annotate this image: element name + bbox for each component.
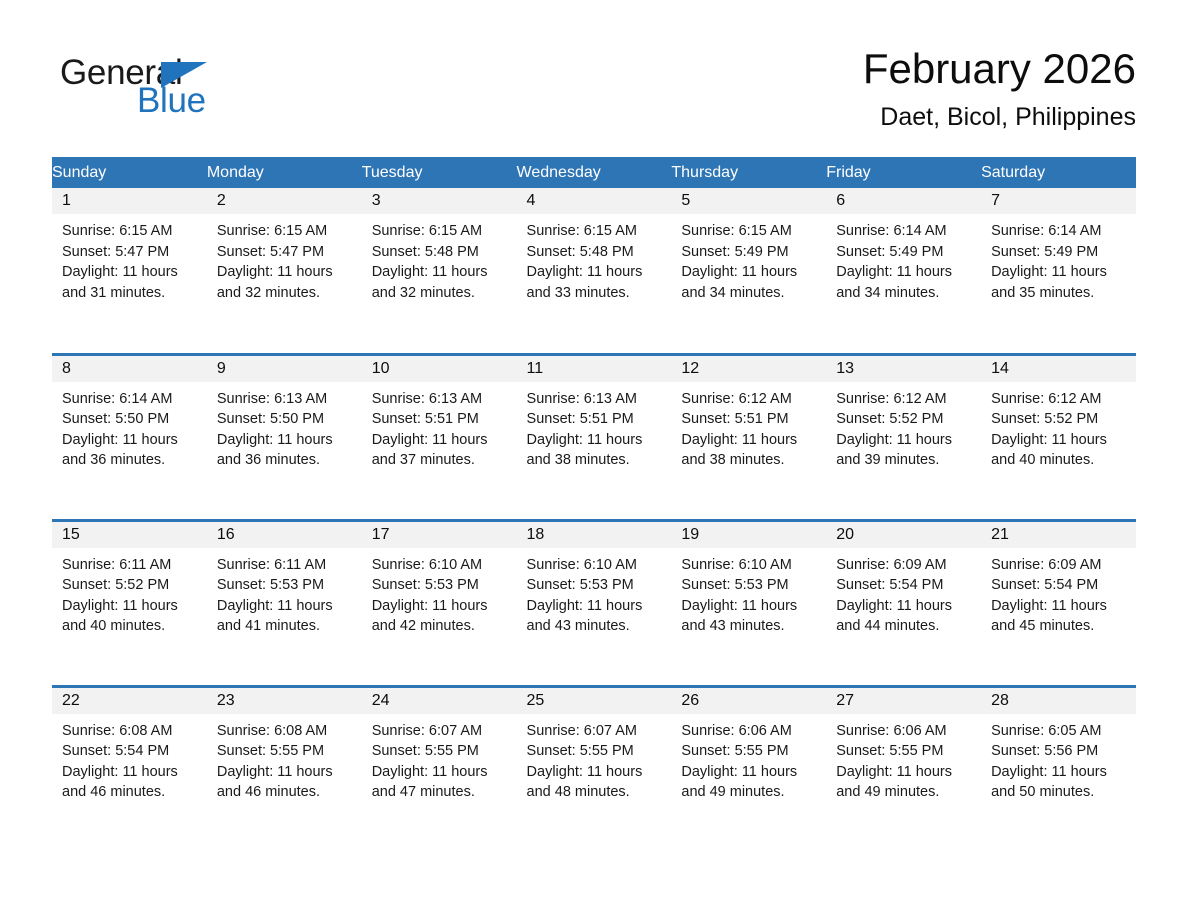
day-number: 12	[671, 356, 826, 382]
sunset-text: Sunset: 5:47 PM	[62, 242, 197, 263]
sunrise-text: Sunrise: 6:10 AM	[681, 555, 816, 576]
daylight-text: Daylight: 11 hours and 46 minutes.	[62, 762, 197, 803]
logo-text-blue: Blue	[137, 82, 206, 120]
sunset-text: Sunset: 5:55 PM	[217, 741, 352, 762]
sunset-text: Sunset: 5:53 PM	[681, 575, 816, 596]
day-number: 28	[981, 688, 1136, 714]
day-cell[interactable]: 7 Sunrise: 6:14 AM Sunset: 5:49 PM Dayli…	[981, 188, 1136, 354]
daylight-text: Daylight: 11 hours and 49 minutes.	[681, 762, 816, 803]
sunrise-text: Sunrise: 6:10 AM	[527, 555, 662, 576]
day-details: Sunrise: 6:15 AM Sunset: 5:49 PM Dayligh…	[671, 214, 826, 303]
daylight-text: Daylight: 11 hours and 45 minutes.	[991, 596, 1126, 637]
sunrise-text: Sunrise: 6:15 AM	[527, 221, 662, 242]
day-details: Sunrise: 6:15 AM Sunset: 5:47 PM Dayligh…	[52, 214, 207, 303]
sunrise-text: Sunrise: 6:13 AM	[217, 389, 352, 410]
weekday-header-tuesday: Tuesday	[362, 157, 517, 188]
sunrise-text: Sunrise: 6:10 AM	[372, 555, 507, 576]
sunset-text: Sunset: 5:53 PM	[217, 575, 352, 596]
sunset-text: Sunset: 5:48 PM	[527, 242, 662, 263]
day-cell[interactable]: 8 Sunrise: 6:14 AM Sunset: 5:50 PM Dayli…	[52, 354, 207, 520]
sunset-text: Sunset: 5:52 PM	[62, 575, 197, 596]
day-details: Sunrise: 6:10 AM Sunset: 5:53 PM Dayligh…	[671, 548, 826, 637]
day-cell[interactable]: 11 Sunrise: 6:13 AM Sunset: 5:51 PM Dayl…	[517, 354, 672, 520]
day-cell[interactable]: 21 Sunrise: 6:09 AM Sunset: 5:54 PM Dayl…	[981, 520, 1136, 686]
day-cell[interactable]: 2 Sunrise: 6:15 AM Sunset: 5:47 PM Dayli…	[207, 188, 362, 354]
sunrise-text: Sunrise: 6:13 AM	[372, 389, 507, 410]
day-cell[interactable]: 20 Sunrise: 6:09 AM Sunset: 5:54 PM Dayl…	[826, 520, 981, 686]
day-details: Sunrise: 6:11 AM Sunset: 5:52 PM Dayligh…	[52, 548, 207, 637]
day-number: 23	[207, 688, 362, 714]
day-cell[interactable]: 19 Sunrise: 6:10 AM Sunset: 5:53 PM Dayl…	[671, 520, 826, 686]
day-cell[interactable]: 15 Sunrise: 6:11 AM Sunset: 5:52 PM Dayl…	[52, 520, 207, 686]
sunrise-text: Sunrise: 6:15 AM	[681, 221, 816, 242]
weekday-header-monday: Monday	[207, 157, 362, 188]
sunrise-text: Sunrise: 6:12 AM	[681, 389, 816, 410]
daylight-text: Daylight: 11 hours and 33 minutes.	[527, 262, 662, 303]
day-cell[interactable]: 14 Sunrise: 6:12 AM Sunset: 5:52 PM Dayl…	[981, 354, 1136, 520]
day-details: Sunrise: 6:06 AM Sunset: 5:55 PM Dayligh…	[826, 714, 981, 803]
page-subtitle: Daet, Bicol, Philippines	[436, 102, 1136, 132]
sunrise-sunset-calendar-table: Sunday Monday Tuesday Wednesday Thursday…	[52, 157, 1136, 852]
day-details: Sunrise: 6:12 AM Sunset: 5:52 PM Dayligh…	[981, 382, 1136, 471]
sunrise-text: Sunrise: 6:06 AM	[836, 721, 971, 742]
sunset-text: Sunset: 5:55 PM	[372, 741, 507, 762]
sunset-text: Sunset: 5:49 PM	[836, 242, 971, 263]
day-number: 7	[981, 188, 1136, 214]
generalblue-logo[interactable]: General Blue	[60, 54, 360, 134]
day-number: 25	[517, 688, 672, 714]
day-cell[interactable]: 23 Sunrise: 6:08 AM Sunset: 5:55 PM Dayl…	[207, 686, 362, 852]
sunrise-text: Sunrise: 6:12 AM	[991, 389, 1126, 410]
day-details: Sunrise: 6:11 AM Sunset: 5:53 PM Dayligh…	[207, 548, 362, 637]
daylight-text: Daylight: 11 hours and 37 minutes.	[372, 430, 507, 471]
day-cell[interactable]: 5 Sunrise: 6:15 AM Sunset: 5:49 PM Dayli…	[671, 188, 826, 354]
day-cell[interactable]: 22 Sunrise: 6:08 AM Sunset: 5:54 PM Dayl…	[52, 686, 207, 852]
day-details: Sunrise: 6:09 AM Sunset: 5:54 PM Dayligh…	[826, 548, 981, 637]
day-number: 17	[362, 522, 517, 548]
sunrise-text: Sunrise: 6:15 AM	[62, 221, 197, 242]
weekday-header-saturday: Saturday	[981, 157, 1136, 188]
sunset-text: Sunset: 5:51 PM	[527, 409, 662, 430]
day-details: Sunrise: 6:10 AM Sunset: 5:53 PM Dayligh…	[362, 548, 517, 637]
sunset-text: Sunset: 5:52 PM	[991, 409, 1126, 430]
day-number: 20	[826, 522, 981, 548]
day-details: Sunrise: 6:08 AM Sunset: 5:54 PM Dayligh…	[52, 714, 207, 803]
daylight-text: Daylight: 11 hours and 46 minutes.	[217, 762, 352, 803]
page-title: February 2026	[436, 44, 1136, 94]
day-details: Sunrise: 6:06 AM Sunset: 5:55 PM Dayligh…	[671, 714, 826, 803]
sunset-text: Sunset: 5:49 PM	[681, 242, 816, 263]
sunrise-text: Sunrise: 6:09 AM	[991, 555, 1126, 576]
day-number: 10	[362, 356, 517, 382]
sunset-text: Sunset: 5:51 PM	[681, 409, 816, 430]
sunrise-text: Sunrise: 6:14 AM	[836, 221, 971, 242]
calendar-header-row-group: Sunday Monday Tuesday Wednesday Thursday…	[52, 157, 1136, 188]
sunrise-text: Sunrise: 6:08 AM	[62, 721, 197, 742]
day-cell[interactable]: 3 Sunrise: 6:15 AM Sunset: 5:48 PM Dayli…	[362, 188, 517, 354]
daylight-text: Daylight: 11 hours and 43 minutes.	[527, 596, 662, 637]
daylight-text: Daylight: 11 hours and 39 minutes.	[836, 430, 971, 471]
day-cell[interactable]: 25 Sunrise: 6:07 AM Sunset: 5:55 PM Dayl…	[517, 686, 672, 852]
sunset-text: Sunset: 5:55 PM	[681, 741, 816, 762]
day-details: Sunrise: 6:15 AM Sunset: 5:47 PM Dayligh…	[207, 214, 362, 303]
day-details: Sunrise: 6:07 AM Sunset: 5:55 PM Dayligh…	[517, 714, 672, 803]
sunset-text: Sunset: 5:50 PM	[62, 409, 197, 430]
day-number: 15	[52, 522, 207, 548]
day-cell[interactable]: 9 Sunrise: 6:13 AM Sunset: 5:50 PM Dayli…	[207, 354, 362, 520]
sunset-text: Sunset: 5:47 PM	[217, 242, 352, 263]
day-details: Sunrise: 6:07 AM Sunset: 5:55 PM Dayligh…	[362, 714, 517, 803]
day-cell[interactable]: 28 Sunrise: 6:05 AM Sunset: 5:56 PM Dayl…	[981, 686, 1136, 852]
day-details: Sunrise: 6:12 AM Sunset: 5:51 PM Dayligh…	[671, 382, 826, 471]
daylight-text: Daylight: 11 hours and 36 minutes.	[217, 430, 352, 471]
day-number: 19	[671, 522, 826, 548]
day-number: 5	[671, 188, 826, 214]
day-details: Sunrise: 6:14 AM Sunset: 5:49 PM Dayligh…	[826, 214, 981, 303]
daylight-text: Daylight: 11 hours and 38 minutes.	[527, 430, 662, 471]
day-number: 24	[362, 688, 517, 714]
sunset-text: Sunset: 5:48 PM	[372, 242, 507, 263]
daylight-text: Daylight: 11 hours and 43 minutes.	[681, 596, 816, 637]
daylight-text: Daylight: 11 hours and 32 minutes.	[217, 262, 352, 303]
daylight-text: Daylight: 11 hours and 34 minutes.	[836, 262, 971, 303]
sunset-text: Sunset: 5:54 PM	[62, 741, 197, 762]
weekday-header-sunday: Sunday	[52, 157, 207, 188]
day-number: 21	[981, 522, 1136, 548]
sunset-text: Sunset: 5:51 PM	[372, 409, 507, 430]
daylight-text: Daylight: 11 hours and 48 minutes.	[527, 762, 662, 803]
sunrise-text: Sunrise: 6:14 AM	[991, 221, 1126, 242]
calendar-body: 1 Sunrise: 6:15 AM Sunset: 5:47 PM Dayli…	[52, 188, 1136, 852]
sunset-text: Sunset: 5:54 PM	[836, 575, 971, 596]
sunrise-text: Sunrise: 6:11 AM	[62, 555, 197, 576]
day-number: 14	[981, 356, 1136, 382]
day-cell[interactable]: 13 Sunrise: 6:12 AM Sunset: 5:52 PM Dayl…	[826, 354, 981, 520]
sunrise-text: Sunrise: 6:11 AM	[217, 555, 352, 576]
day-details: Sunrise: 6:10 AM Sunset: 5:53 PM Dayligh…	[517, 548, 672, 637]
day-details: Sunrise: 6:12 AM Sunset: 5:52 PM Dayligh…	[826, 382, 981, 471]
daylight-text: Daylight: 11 hours and 42 minutes.	[372, 596, 507, 637]
sunset-text: Sunset: 5:55 PM	[836, 741, 971, 762]
sunrise-text: Sunrise: 6:07 AM	[372, 721, 507, 742]
title-block: February 2026 Daet, Bicol, Philippines	[436, 44, 1136, 132]
sunset-text: Sunset: 5:52 PM	[836, 409, 971, 430]
daylight-text: Daylight: 11 hours and 32 minutes.	[372, 262, 507, 303]
day-cell[interactable]: 12 Sunrise: 6:12 AM Sunset: 5:51 PM Dayl…	[671, 354, 826, 520]
sunrise-text: Sunrise: 6:09 AM	[836, 555, 971, 576]
calendar-week-row: 8 Sunrise: 6:14 AM Sunset: 5:50 PM Dayli…	[52, 354, 1136, 520]
day-details: Sunrise: 6:14 AM Sunset: 5:49 PM Dayligh…	[981, 214, 1136, 303]
day-number: 1	[52, 188, 207, 214]
daylight-text: Daylight: 11 hours and 50 minutes.	[991, 762, 1126, 803]
daylight-text: Daylight: 11 hours and 35 minutes.	[991, 262, 1126, 303]
sunrise-text: Sunrise: 6:08 AM	[217, 721, 352, 742]
day-cell[interactable]: 18 Sunrise: 6:10 AM Sunset: 5:53 PM Dayl…	[517, 520, 672, 686]
day-cell[interactable]: 1 Sunrise: 6:15 AM Sunset: 5:47 PM Dayli…	[52, 188, 207, 354]
day-cell[interactable]: 10 Sunrise: 6:13 AM Sunset: 5:51 PM Dayl…	[362, 354, 517, 520]
daylight-text: Daylight: 11 hours and 44 minutes.	[836, 596, 971, 637]
day-number: 13	[826, 356, 981, 382]
day-number: 8	[52, 356, 207, 382]
day-number: 18	[517, 522, 672, 548]
sunset-text: Sunset: 5:50 PM	[217, 409, 352, 430]
day-number: 26	[671, 688, 826, 714]
calendar-week-row: 15 Sunrise: 6:11 AM Sunset: 5:52 PM Dayl…	[52, 520, 1136, 686]
sunrise-text: Sunrise: 6:06 AM	[681, 721, 816, 742]
daylight-text: Daylight: 11 hours and 31 minutes.	[62, 262, 197, 303]
sunset-text: Sunset: 5:53 PM	[372, 575, 507, 596]
sunrise-text: Sunrise: 6:15 AM	[372, 221, 507, 242]
weekday-header-thursday: Thursday	[671, 157, 826, 188]
day-number: 16	[207, 522, 362, 548]
day-cell[interactable]: 4 Sunrise: 6:15 AM Sunset: 5:48 PM Dayli…	[517, 188, 672, 354]
day-number: 22	[52, 688, 207, 714]
sunrise-text: Sunrise: 6:15 AM	[217, 221, 352, 242]
sunset-text: Sunset: 5:49 PM	[991, 242, 1126, 263]
sunrise-text: Sunrise: 6:12 AM	[836, 389, 971, 410]
day-number: 6	[826, 188, 981, 214]
day-number: 2	[207, 188, 362, 214]
day-details: Sunrise: 6:13 AM Sunset: 5:51 PM Dayligh…	[517, 382, 672, 471]
day-details: Sunrise: 6:15 AM Sunset: 5:48 PM Dayligh…	[362, 214, 517, 303]
sunrise-text: Sunrise: 6:13 AM	[527, 389, 662, 410]
sunset-text: Sunset: 5:53 PM	[527, 575, 662, 596]
daylight-text: Daylight: 11 hours and 36 minutes.	[62, 430, 197, 471]
day-number: 27	[826, 688, 981, 714]
daylight-text: Daylight: 11 hours and 38 minutes.	[681, 430, 816, 471]
day-cell[interactable]: 26 Sunrise: 6:06 AM Sunset: 5:55 PM Dayl…	[671, 686, 826, 852]
day-details: Sunrise: 6:08 AM Sunset: 5:55 PM Dayligh…	[207, 714, 362, 803]
sunset-text: Sunset: 5:54 PM	[991, 575, 1126, 596]
day-details: Sunrise: 6:15 AM Sunset: 5:48 PM Dayligh…	[517, 214, 672, 303]
day-details: Sunrise: 6:14 AM Sunset: 5:50 PM Dayligh…	[52, 382, 207, 471]
day-details: Sunrise: 6:05 AM Sunset: 5:56 PM Dayligh…	[981, 714, 1136, 803]
page-header: General Blue February 2026 Daet, Bicol, …	[52, 44, 1136, 144]
sunrise-text: Sunrise: 6:14 AM	[62, 389, 197, 410]
daylight-text: Daylight: 11 hours and 49 minutes.	[836, 762, 971, 803]
calendar-week-row: 1 Sunrise: 6:15 AM Sunset: 5:47 PM Dayli…	[52, 188, 1136, 354]
weekday-header-friday: Friday	[826, 157, 981, 188]
day-number: 11	[517, 356, 672, 382]
calendar-page: General Blue February 2026 Daet, Bicol, …	[0, 0, 1188, 918]
daylight-text: Daylight: 11 hours and 40 minutes.	[991, 430, 1126, 471]
day-number: 4	[517, 188, 672, 214]
day-cell[interactable]: 24 Sunrise: 6:07 AM Sunset: 5:55 PM Dayl…	[362, 686, 517, 852]
sunrise-text: Sunrise: 6:05 AM	[991, 721, 1126, 742]
weekday-header-wednesday: Wednesday	[517, 157, 672, 188]
day-number: 3	[362, 188, 517, 214]
sunset-text: Sunset: 5:55 PM	[527, 741, 662, 762]
day-details: Sunrise: 6:09 AM Sunset: 5:54 PM Dayligh…	[981, 548, 1136, 637]
day-cell[interactable]: 27 Sunrise: 6:06 AM Sunset: 5:55 PM Dayl…	[826, 686, 981, 852]
daylight-text: Daylight: 11 hours and 47 minutes.	[372, 762, 507, 803]
day-cell[interactable]: 6 Sunrise: 6:14 AM Sunset: 5:49 PM Dayli…	[826, 188, 981, 354]
daylight-text: Daylight: 11 hours and 40 minutes.	[62, 596, 197, 637]
day-number: 9	[207, 356, 362, 382]
calendar-week-row: 22 Sunrise: 6:08 AM Sunset: 5:54 PM Dayl…	[52, 686, 1136, 852]
daylight-text: Daylight: 11 hours and 34 minutes.	[681, 262, 816, 303]
weekday-header-row: Sunday Monday Tuesday Wednesday Thursday…	[52, 157, 1136, 188]
day-details: Sunrise: 6:13 AM Sunset: 5:51 PM Dayligh…	[362, 382, 517, 471]
day-cell[interactable]: 17 Sunrise: 6:10 AM Sunset: 5:53 PM Dayl…	[362, 520, 517, 686]
day-cell[interactable]: 16 Sunrise: 6:11 AM Sunset: 5:53 PM Dayl…	[207, 520, 362, 686]
daylight-text: Daylight: 11 hours and 41 minutes.	[217, 596, 352, 637]
sunset-text: Sunset: 5:56 PM	[991, 741, 1126, 762]
sunrise-text: Sunrise: 6:07 AM	[527, 721, 662, 742]
day-details: Sunrise: 6:13 AM Sunset: 5:50 PM Dayligh…	[207, 382, 362, 471]
